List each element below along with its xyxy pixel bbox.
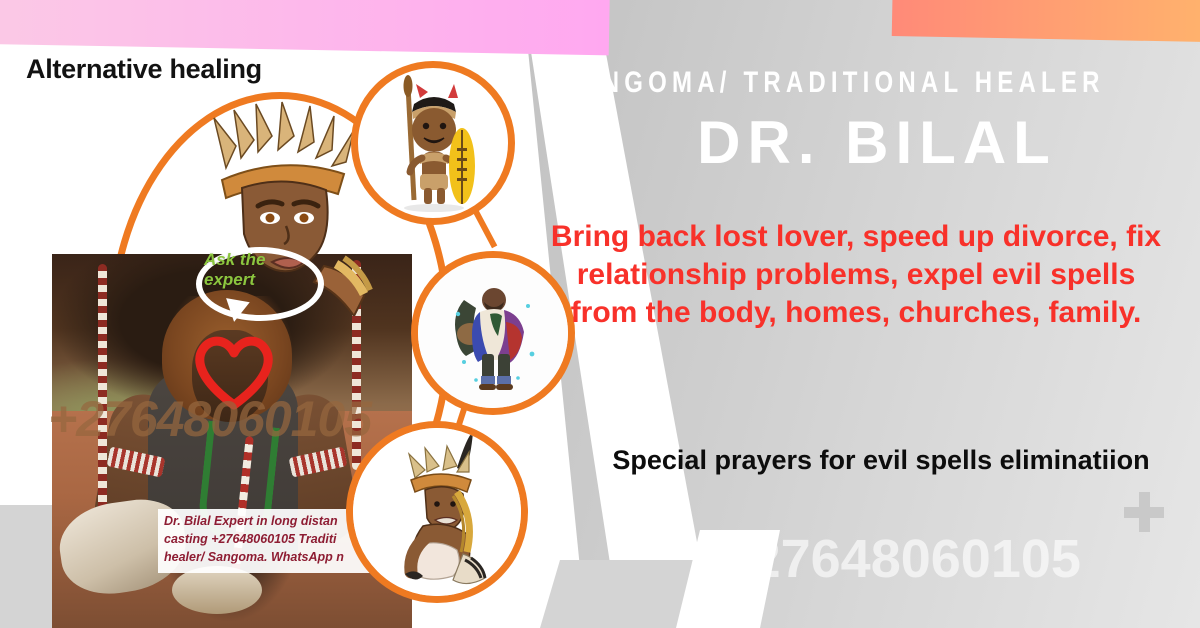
orange-accent-strip	[892, 0, 1200, 42]
kicker-text: SANGOMA/ TRADITIONAL HEALER	[558, 66, 1054, 100]
zulu-warrior-with-spear-and-shield-icon	[358, 68, 508, 218]
speech-bubble-label: Ask the expert	[204, 250, 308, 289]
phone-watermark: +27648060105	[620, 528, 1180, 590]
poster-canvas: Alternative healing	[0, 0, 1200, 628]
pink-accent-strip	[0, 0, 610, 55]
brand-name: DR. BILAL	[572, 108, 1182, 177]
caption-line-3: healer/ Sangoma. WhatsApp n	[164, 549, 378, 567]
services-text: Bring back lost lover, speed up divorce,…	[546, 218, 1166, 332]
medallion-crouching-sangoma	[346, 421, 528, 603]
medallion-zulu-warrior	[351, 61, 515, 225]
page-title: Alternative healing	[26, 54, 262, 85]
plus-decoration-icon	[1124, 492, 1164, 532]
crouching-sangoma-with-headdress-icon	[353, 428, 521, 596]
prayers-text: Special prayers for evil spells eliminat…	[596, 443, 1166, 478]
photo-phone-watermark: +27648060105	[48, 390, 371, 448]
caption-line-2: casting +27648060105 Traditi	[164, 531, 378, 549]
